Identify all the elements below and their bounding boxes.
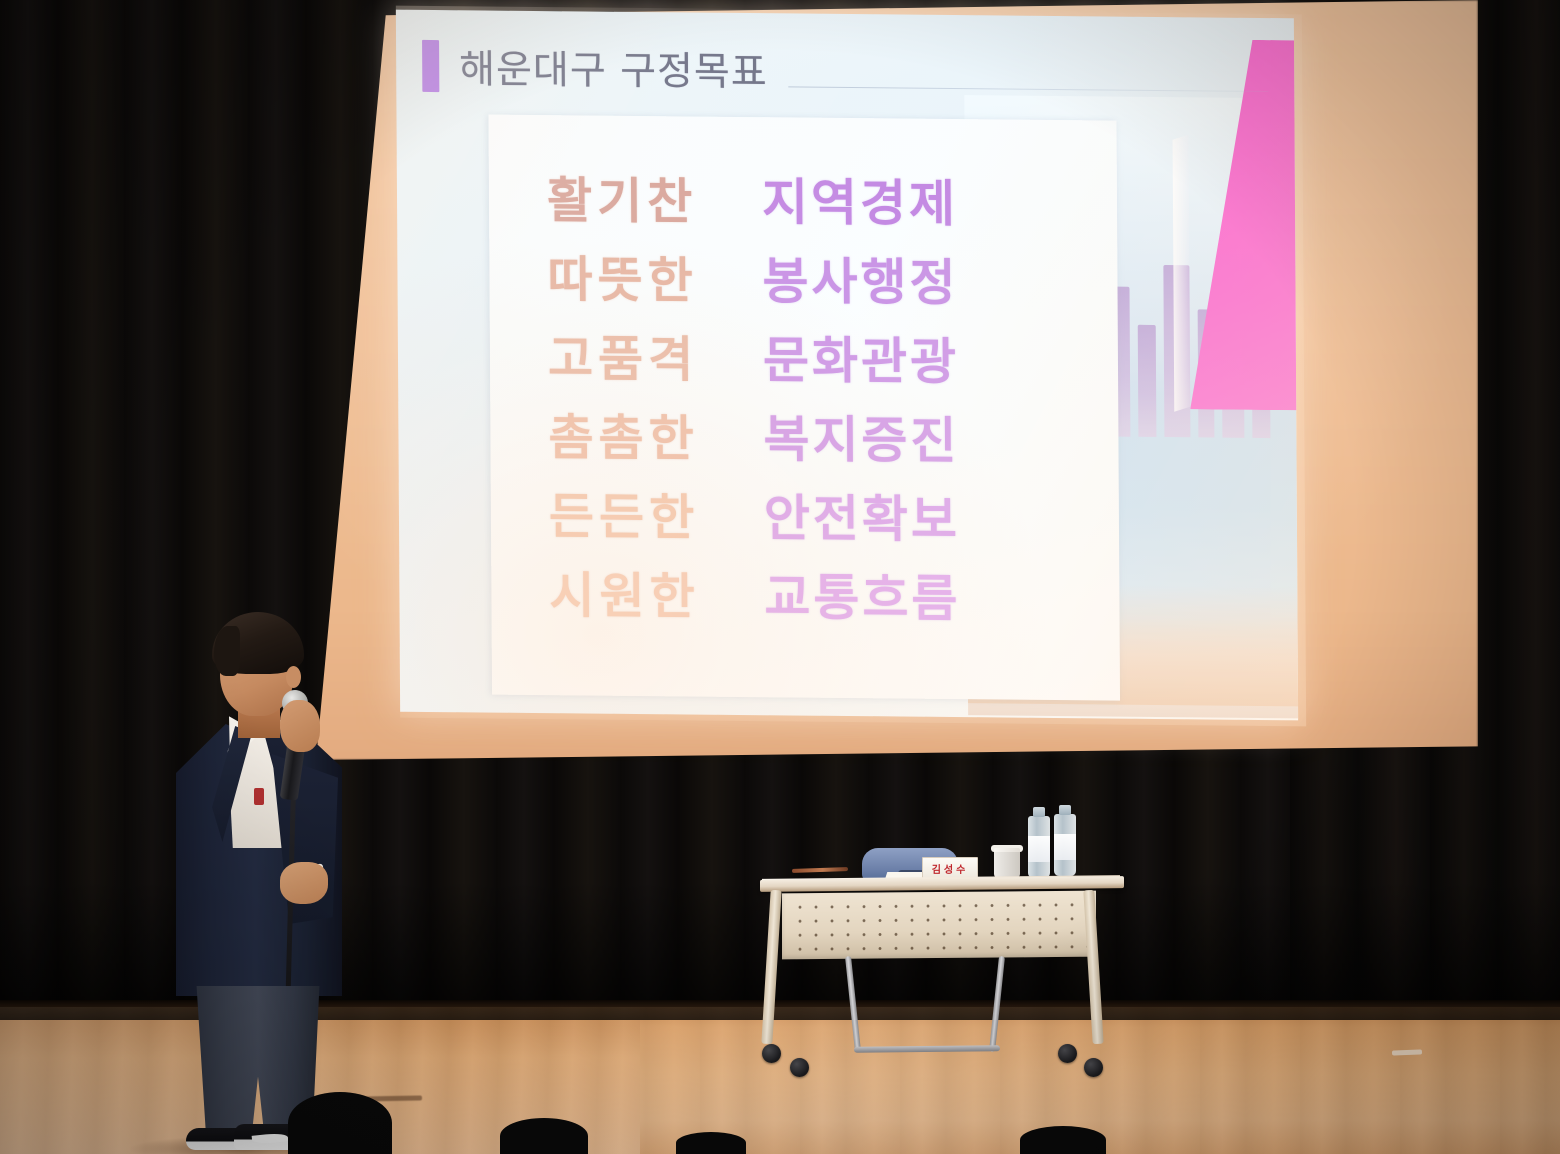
goal-noun: 복지증진 bbox=[763, 400, 959, 481]
goal-noun: 교통흐름 bbox=[764, 558, 960, 639]
goal-adjective: 고품격 bbox=[548, 319, 763, 400]
table-brace-left bbox=[845, 956, 861, 1052]
pen bbox=[792, 867, 848, 873]
goal-noun: 봉사행정 bbox=[762, 242, 958, 323]
hair-side bbox=[214, 626, 240, 676]
bottle-cap bbox=[1059, 805, 1071, 815]
audience-head bbox=[500, 1118, 588, 1154]
bottle-cap bbox=[1033, 807, 1045, 817]
modesty-panel bbox=[782, 891, 1096, 960]
stage-scene: 13 해운대구 구정목표 활기찬 지역경제 따뜻한 봉사행정 bbox=[0, 0, 1560, 1154]
nameplate-text: 김성수 bbox=[932, 861, 969, 876]
goal-list: 활기찬 지역경제 따뜻한 봉사행정 고품격 문화관광 촘촘한 복지증진 든든한 bbox=[547, 161, 1250, 642]
audience-head bbox=[1020, 1126, 1106, 1154]
water-bottle bbox=[1054, 814, 1076, 876]
goal-noun: 지역경제 bbox=[762, 163, 958, 244]
bottle-label bbox=[1054, 834, 1076, 860]
water-bottle bbox=[1028, 816, 1050, 878]
goal-row: 따뜻한 봉사행정 bbox=[547, 240, 1247, 326]
ear bbox=[286, 666, 301, 688]
lapel-badge bbox=[254, 788, 264, 805]
goal-adjective: 촘촘한 bbox=[548, 398, 763, 479]
conference-table: 김성수 bbox=[758, 866, 1126, 1084]
speaker-figure bbox=[176, 604, 346, 1150]
audience-head bbox=[288, 1092, 392, 1154]
table-foot-rail bbox=[854, 1045, 1000, 1053]
table-caster bbox=[762, 1044, 781, 1063]
goal-noun: 안전확보 bbox=[764, 479, 960, 560]
goal-row: 고품격 문화관광 bbox=[548, 319, 1248, 405]
goal-adjective: 따뜻한 bbox=[547, 240, 762, 321]
floor-mark bbox=[1392, 1049, 1422, 1055]
table-brace-right bbox=[989, 956, 1005, 1052]
table-caster bbox=[790, 1058, 809, 1077]
goal-row: 든든한 안전확보 bbox=[549, 477, 1249, 563]
goal-noun: 문화관광 bbox=[763, 321, 959, 402]
slide-title: 해운대구 구정목표 bbox=[459, 38, 768, 97]
bottle-label bbox=[1028, 836, 1050, 862]
goal-row: 시원한 교통흐름 bbox=[549, 556, 1249, 642]
goal-adjective: 활기찬 bbox=[547, 161, 762, 242]
table-leg-right bbox=[1083, 890, 1103, 1044]
table-caster bbox=[1058, 1044, 1077, 1063]
tabletop bbox=[760, 876, 1124, 892]
table-caster bbox=[1084, 1058, 1103, 1077]
nameplate: 김성수 bbox=[922, 857, 978, 879]
title-underline-rule bbox=[788, 86, 1268, 92]
table-leg-left bbox=[761, 890, 781, 1044]
goal-row: 활기찬 지역경제 bbox=[547, 161, 1247, 247]
audience-head bbox=[676, 1132, 746, 1154]
hand-holding-microphone bbox=[280, 700, 320, 752]
title-accent-bar bbox=[422, 40, 439, 92]
projected-slide: 13 해운대구 구정목표 활기찬 지역경제 따뜻한 봉사행정 bbox=[396, 10, 1298, 721]
goal-adjective: 든든한 bbox=[549, 477, 764, 558]
perforation-pattern bbox=[792, 898, 1088, 952]
goal-row: 촘촘한 복지증진 bbox=[548, 398, 1248, 484]
slide-canvas: 13 해운대구 구정목표 활기찬 지역경제 따뜻한 봉사행정 bbox=[396, 10, 1298, 721]
slide-title-row: 해운대구 구정목표 bbox=[422, 38, 768, 97]
paper-cup bbox=[994, 848, 1020, 878]
gesturing-hand bbox=[280, 862, 328, 904]
goal-adjective: 시원한 bbox=[549, 556, 764, 637]
